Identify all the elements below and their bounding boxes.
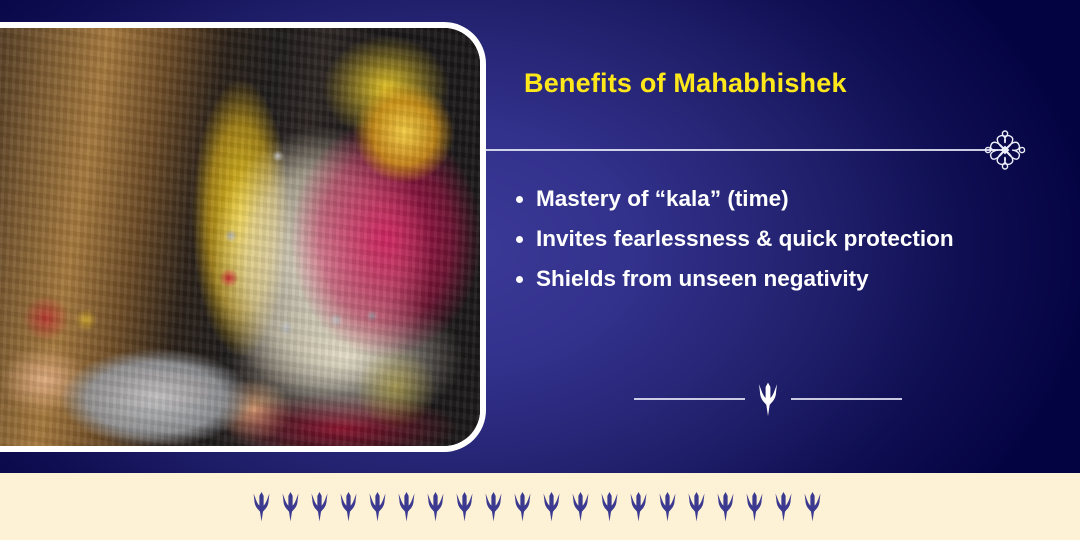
- slide-canvas: Benefits of Mahabhishek Mastery of “kala…: [0, 0, 1080, 540]
- trishul-icon: [511, 489, 534, 524]
- four-lobed-knot-ornament: [983, 130, 1027, 170]
- bullet-dot-icon: [516, 196, 523, 203]
- trishul-icon: [395, 489, 418, 524]
- list-item: Invites fearlessness & quick protection: [516, 223, 1076, 255]
- list-item: Mastery of “kala” (time): [516, 183, 1076, 215]
- list-item-label: Invites fearlessness & quick protection: [536, 223, 954, 255]
- trishul-divider: [634, 382, 902, 416]
- trishul-icon: [337, 489, 360, 524]
- title-divider: [485, 148, 1055, 152]
- trishul-icon: [250, 489, 273, 524]
- divider-line-right: [791, 398, 902, 399]
- bullet-dot-icon: [516, 236, 523, 243]
- bullet-dot-icon: [516, 276, 523, 283]
- trishul-icon: [308, 489, 331, 524]
- list-item-label: Shields from unseen negativity: [536, 263, 869, 295]
- trishul-motif-row: [250, 489, 824, 524]
- trishul-icon: [569, 489, 592, 524]
- list-item: Shields from unseen negativity: [516, 263, 1076, 295]
- trishul-icon: [772, 489, 795, 524]
- deity-photo: [0, 28, 480, 446]
- trishul-icon: [482, 489, 505, 524]
- trishul-icon: [627, 489, 650, 524]
- trishul-icon: [424, 489, 447, 524]
- trishul-icon: [453, 489, 476, 524]
- divider-line-left: [634, 398, 745, 399]
- bottom-motif-band: [0, 473, 1080, 540]
- list-item-label: Mastery of “kala” (time): [536, 183, 789, 215]
- trishul-icon: [540, 489, 563, 524]
- trishul-icon: [598, 489, 621, 524]
- trishul-icon: [279, 489, 302, 524]
- trishul-icon: [801, 489, 824, 524]
- trishul-icon: [743, 489, 766, 524]
- trishul-icon: [755, 382, 781, 416]
- trishul-icon: [656, 489, 679, 524]
- divider-line: [485, 149, 1005, 151]
- page-title: Benefits of Mahabhishek: [524, 68, 847, 99]
- trishul-icon: [714, 489, 737, 524]
- deity-photo-frame: [0, 22, 486, 452]
- benefits-list: Mastery of “kala” (time) Invites fearles…: [516, 183, 1076, 303]
- trishul-icon: [366, 489, 389, 524]
- trishul-icon: [685, 489, 708, 524]
